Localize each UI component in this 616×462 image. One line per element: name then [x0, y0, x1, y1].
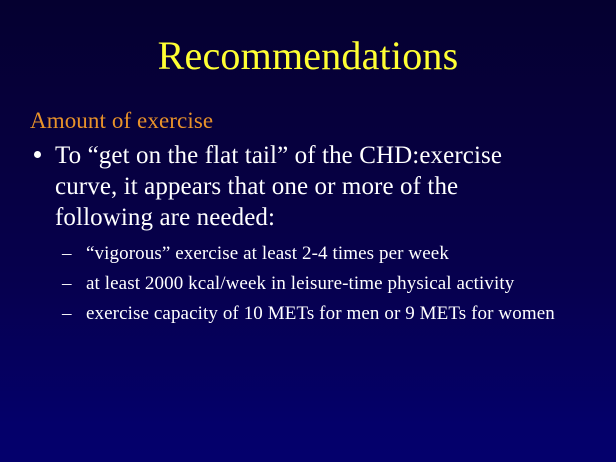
slide-title: Recommendations: [0, 32, 616, 80]
dash-icon: –: [62, 241, 76, 266]
bullet-item-primary: To “get on the flat tail” of the CHD:exe…: [55, 140, 560, 233]
slide-body: Amount of exercise To “get on the flat t…: [0, 106, 616, 331]
sub-bullet-list: – “vigorous” exercise at least 2-4 times…: [0, 241, 616, 326]
sub-bullet-text: “vigorous” exercise at least 2-4 times p…: [86, 243, 449, 264]
sub-bullet-text: exercise capacity of 10 METs for men or …: [86, 303, 555, 324]
slide-title-block: Recommendations: [0, 32, 616, 80]
dash-icon: –: [62, 301, 76, 326]
bullet-dot-icon: [34, 151, 41, 158]
sub-bullet-text: at least 2000 kcal/week in leisure-time …: [86, 273, 514, 294]
presentation-slide: Recommendations Amount of exercise To “g…: [0, 0, 616, 462]
sub-bullet-item: – at least 2000 kcal/week in leisure-tim…: [86, 271, 566, 296]
bullet-primary-text: To “get on the flat tail” of the CHD:exe…: [55, 142, 502, 231]
slide-subheading: Amount of exercise: [30, 106, 616, 136]
sub-bullet-item: – exercise capacity of 10 METs for men o…: [86, 301, 566, 326]
sub-bullet-item: – “vigorous” exercise at least 2-4 times…: [86, 241, 566, 266]
dash-icon: –: [62, 271, 76, 296]
